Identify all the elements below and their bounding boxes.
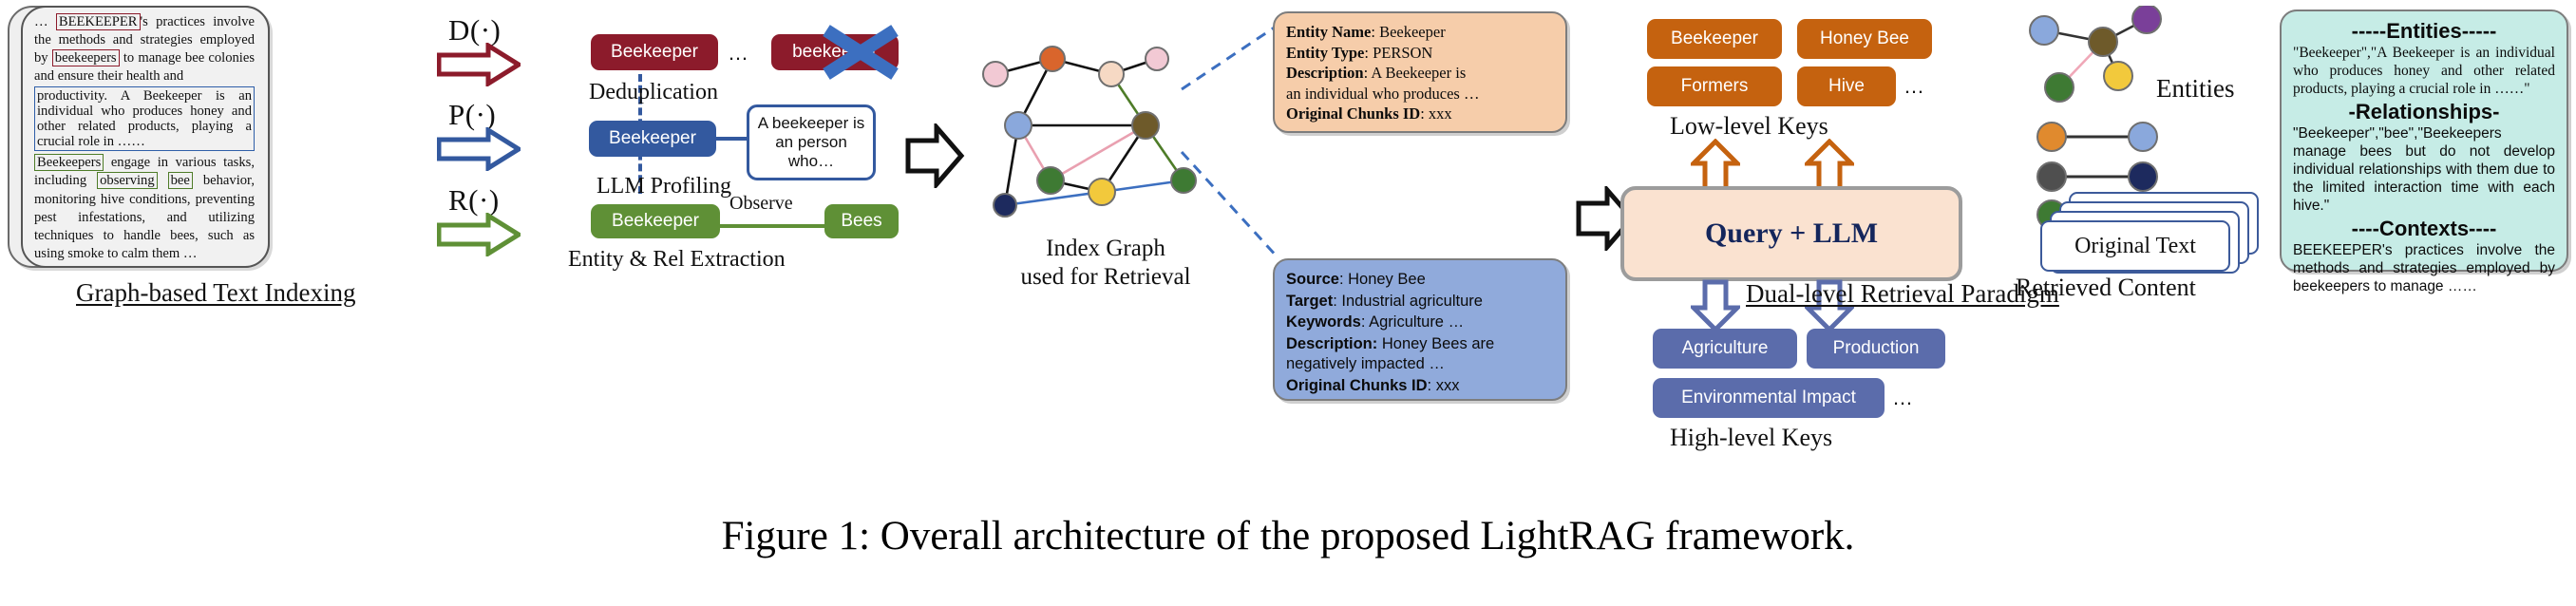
extraction-stage-label: Entity & Rel Extraction (568, 247, 786, 273)
highlight-beekeeper-upper: BEEKEEPER (56, 13, 141, 30)
relation-keywords-key: Keywords (1286, 313, 1361, 331)
relation-description-value-cont: negatively impacted … (1286, 354, 1554, 375)
entity-name-key: Entity Name (1286, 23, 1371, 41)
relation-description-value: Honey Bees are (1377, 335, 1494, 352)
highlight-beekeepers-green: Beekeepers (34, 154, 104, 171)
entity-chunks-line: Original Chunks ID: xxx (1286, 104, 1554, 124)
highlight-profile-block: productivity. A Beekeeper is an individu… (34, 86, 255, 151)
highlight-profile-text: productivity. A Beekeeper is an individu… (37, 88, 252, 149)
high-level-key-2: Environmental Impact (1653, 378, 1885, 418)
flow-arrow-to-graph (904, 123, 965, 193)
entity-description-value: : A Beekeeper is (1364, 64, 1467, 82)
low-level-key-2: Formers (1647, 66, 1782, 106)
extraction-edge-label: Observe (729, 193, 793, 215)
extraction-node-a: Beekeeper (591, 204, 720, 238)
contexts-section-body: BEEKEEPER's practices involve the method… (2293, 241, 2555, 295)
relation-keywords-line: Keywords: Agriculture … (1286, 312, 1554, 333)
extraction-edge (718, 224, 826, 228)
profiling-callout: A beekeeper is an person who… (747, 104, 876, 180)
dedup-node-a: Beekeeper (591, 34, 718, 70)
relation-keywords-value: : Agriculture … (1361, 313, 1464, 331)
entities-section-heading: -----Entities----- (2293, 19, 2555, 44)
profiling-stage-label: LLM Profiling (597, 174, 731, 199)
cross-out-icon (817, 23, 904, 86)
section-label-retrieval: Dual-level Retrieval Paradigm (1746, 279, 2059, 309)
relation-target-line: Target: Industrial agriculture (1286, 291, 1554, 312)
block-arrow-dedup (437, 43, 521, 91)
highlight-observing: observing (97, 172, 158, 189)
section-label-indexing: Graph-based Text Indexing (76, 278, 356, 308)
doc-prefix: … (34, 14, 56, 29)
relationships-section-body: "Beekeeper","bee","Beekeepers manage bee… (2293, 124, 2555, 215)
high-level-key-0: Agriculture (1653, 329, 1797, 369)
entity-type-key: Entity Type (1286, 44, 1364, 62)
highlight-bee: bee (168, 172, 193, 189)
relation-description-key: Description: (1286, 335, 1377, 352)
relation-chunks-key: Original Chunks ID (1286, 377, 1428, 394)
high-level-keys-label: High-level Keys (1670, 424, 1832, 452)
entities-label: Entities (2156, 74, 2235, 104)
graph-to-relation-card-connector (1178, 142, 1282, 271)
low-level-key-0: Beekeeper (1647, 19, 1782, 59)
figure-canvas: … BEEKEEPER's practices involve the meth… (0, 0, 2576, 606)
relation-chunks-value: : xxx (1428, 377, 1460, 394)
contexts-section-heading: ----Contexts---- (2293, 217, 2555, 241)
relation-info-card: Source: Honey Bee Target: Industrial agr… (1273, 258, 1567, 401)
entity-chunks-key: Original Chunks ID (1286, 104, 1420, 123)
block-arrow-profile (437, 127, 521, 176)
figure-caption: Figure 1: Overall architecture of the pr… (0, 513, 2576, 559)
high-level-keys-ellipsis: … (1892, 386, 1915, 410)
doc-space (158, 173, 168, 188)
dedup-stage-label: Deduplication (589, 80, 718, 105)
low-level-key-3: Hive (1797, 66, 1896, 106)
relation-source-value: : Honey Bee (1339, 271, 1426, 288)
relation-description-line: Description: Honey Bees are (1286, 333, 1554, 355)
entities-section-body: "Beekeeper","A Beekeeper is an individua… (2293, 44, 2555, 98)
low-level-keys-ellipsis: … (1904, 74, 1926, 99)
graph-to-entity-card-connector (1178, 19, 1282, 100)
final-output-card: -----Entities----- "Beekeeper","A Beekee… (2280, 9, 2568, 272)
entity-description-line: Description: A Beekeeper is (1286, 63, 1554, 84)
entity-info-card: Entity Name: Beekeeper Entity Type: PERS… (1273, 11, 1567, 133)
low-level-key-1: Honey Bee (1797, 19, 1932, 59)
block-arrow-extract (437, 213, 521, 261)
query-llm-box: Query + LLM (1620, 186, 1962, 281)
entity-type-line: Entity Type: PERSON (1286, 43, 1554, 64)
source-document-text: … BEEKEEPER's practices involve the meth… (34, 13, 255, 258)
relation-source-key: Source (1286, 271, 1339, 288)
highlight-beekeepers: beekeepers (52, 49, 120, 66)
entity-name-line: Entity Name: Beekeeper (1286, 22, 1554, 43)
low-level-keys-label: Low-level Keys (1670, 112, 1828, 141)
original-text-label: Original Text (2074, 234, 2196, 259)
relation-target-value: : Industrial agriculture (1333, 293, 1483, 310)
entity-description-value-cont: an individual who produces … (1286, 84, 1554, 104)
relation-chunks-line: Original Chunks ID: xxx (1286, 375, 1554, 397)
relation-source-line: Source: Honey Bee (1286, 269, 1554, 291)
entity-chunks-value: : xxx (1420, 104, 1451, 123)
relationships-section-heading: -Relationships- (2293, 100, 2555, 124)
dedup-ellipsis: … (728, 41, 750, 66)
original-text-card: Original Text (2040, 220, 2230, 272)
profiling-node: Beekeeper (589, 121, 716, 157)
extraction-node-b: Bees (824, 204, 899, 238)
entity-description-key: Description (1286, 64, 1364, 82)
entity-type-value: : PERSON (1364, 44, 1432, 62)
entity-name-value: : Beekeeper (1371, 23, 1445, 41)
high-level-key-1: Production (1807, 329, 1945, 369)
query-llm-label: Query + LLM (1705, 218, 1878, 250)
relation-target-key: Target (1286, 293, 1333, 310)
profiling-connector (714, 137, 750, 141)
